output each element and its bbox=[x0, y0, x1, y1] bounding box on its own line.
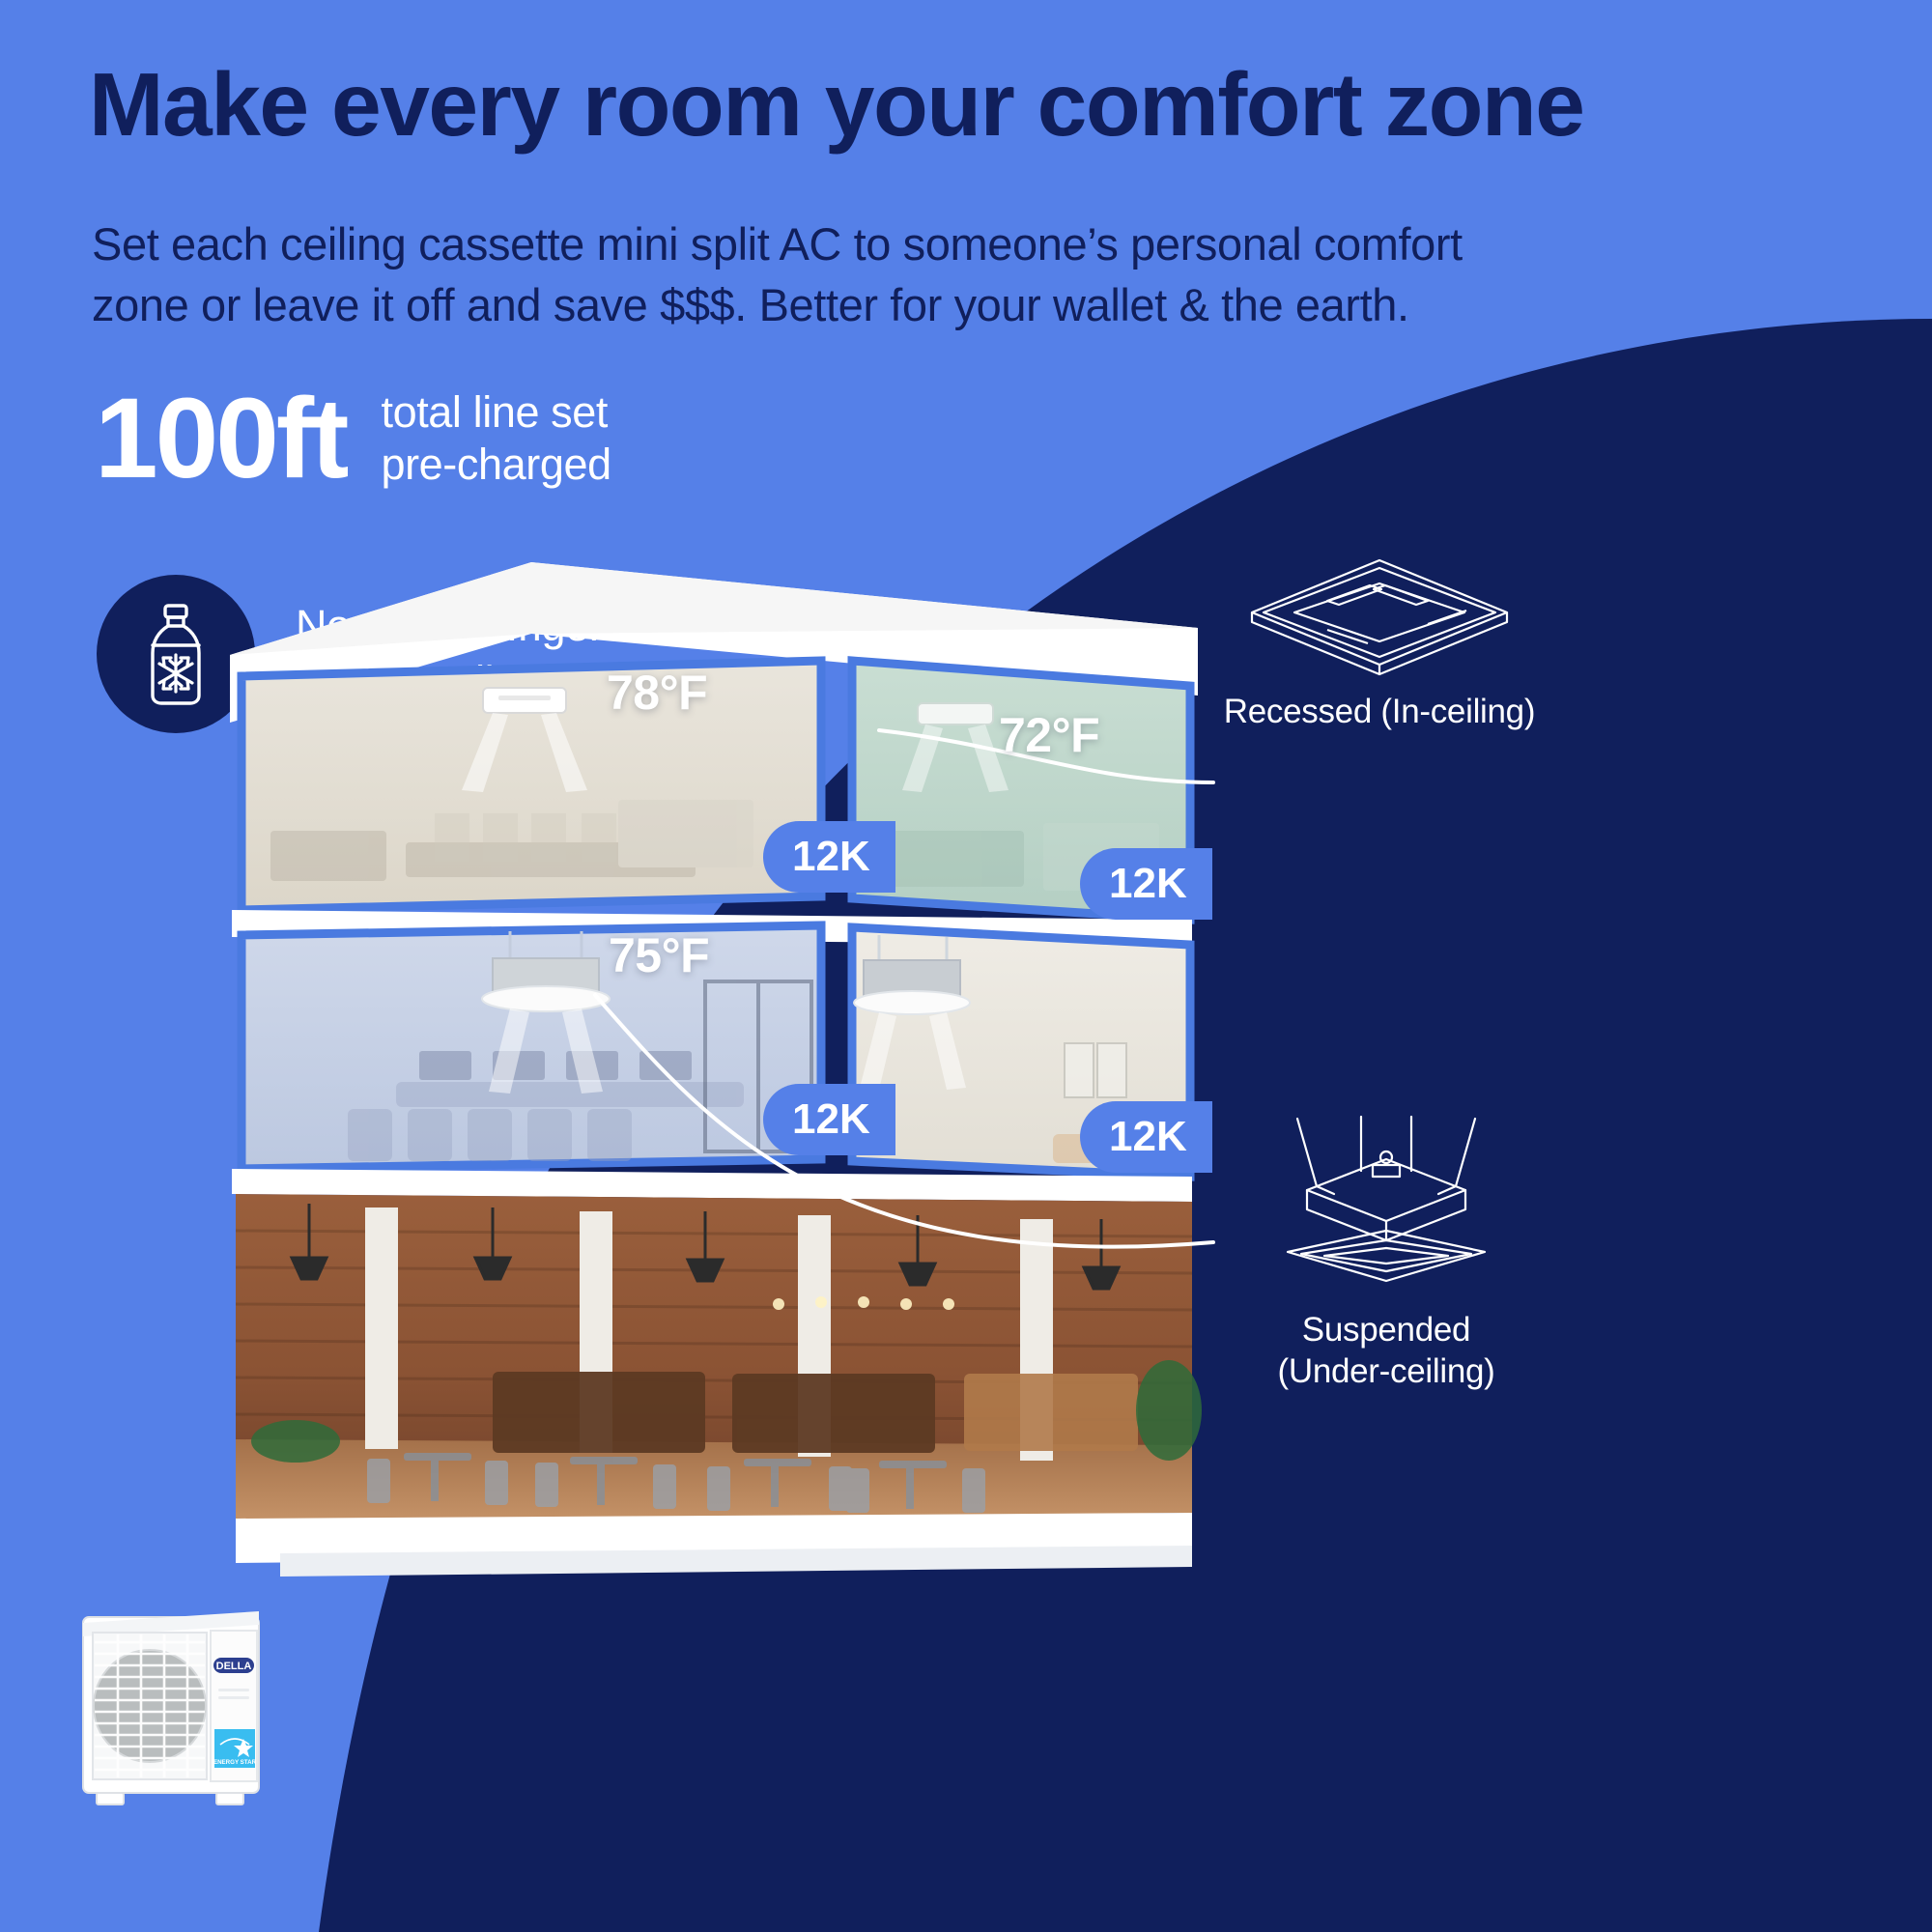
brand-label: DELLA bbox=[216, 1661, 252, 1672]
callout-suspended-cassette: Suspended (Under-ceiling) bbox=[1227, 1111, 1546, 1392]
line-set-caption-line-2: pre-charged bbox=[381, 439, 611, 491]
subheading: Set each ceiling cassette mini split AC … bbox=[92, 214, 1541, 335]
building-cutaway-illustration: 78°F 72°F 75°F 12K 12K 12K 12K bbox=[203, 541, 1227, 1893]
poster-canvas: Make every room your comfort zone Set ea… bbox=[0, 0, 1932, 1932]
capacity-badge-upper-left: 12K bbox=[763, 821, 895, 893]
capacity-badge-lower-left: 12K bbox=[763, 1084, 895, 1155]
suspended-ceiling-cassette-icon bbox=[1241, 1111, 1531, 1304]
condenser-svg: DELLA ENERGY STAR bbox=[79, 1582, 263, 1824]
temperature-lower-left: 75°F bbox=[609, 927, 709, 983]
temperature-upper-left: 78°F bbox=[607, 665, 707, 721]
line-set-caption-line-1: total line set bbox=[381, 386, 611, 439]
outdoor-condenser-unit: DELLA ENERGY STAR bbox=[79, 1582, 263, 1824]
callout-suspended-label-line-1: Suspended bbox=[1227, 1310, 1546, 1351]
callout-suspended-label-line-2: (Under-ceiling) bbox=[1227, 1351, 1546, 1393]
capacity-badge-lower-right: 12K bbox=[1080, 1101, 1212, 1173]
subheading-line-2: zone or leave it off and save $$$. Bette… bbox=[92, 275, 1541, 336]
subheading-line-1: Set each ceiling cassette mini split AC … bbox=[92, 214, 1541, 275]
page-title: Make every room your comfort zone bbox=[89, 60, 1866, 150]
capacity-badge-upper-right: 12K bbox=[1080, 848, 1212, 920]
recessed-ceiling-cassette-icon bbox=[1235, 541, 1524, 686]
temperature-upper-right: 72°F bbox=[999, 707, 1099, 763]
callout-recessed-label: Recessed (In-ceiling) bbox=[1206, 692, 1553, 733]
callout-recessed-cassette: Recessed (In-ceiling) bbox=[1206, 541, 1553, 733]
energy-star-label: ENERGY STAR bbox=[213, 1759, 257, 1766]
line-set-value: 100ft bbox=[95, 386, 346, 492]
line-set-caption: total line set pre-charged bbox=[381, 386, 611, 491]
line-set-stat: 100ft total line set pre-charged bbox=[95, 386, 611, 492]
